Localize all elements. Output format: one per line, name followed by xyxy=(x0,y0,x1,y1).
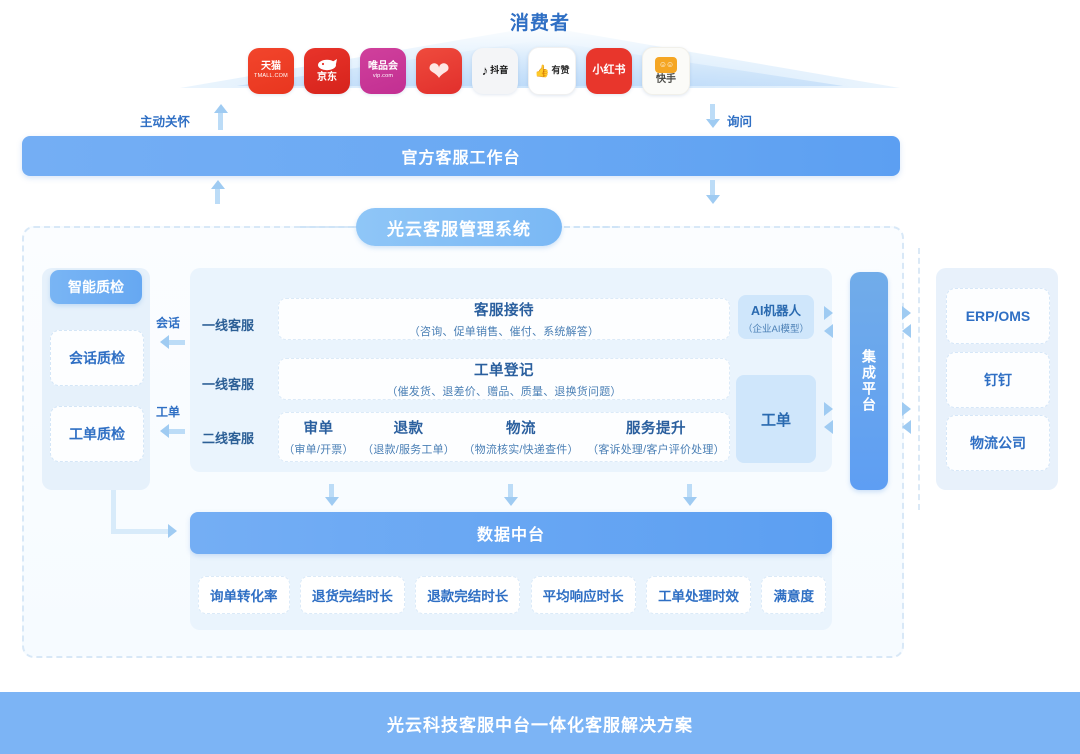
heart-glyph: ❤ xyxy=(428,58,450,84)
system-title-label: 光云客服管理系统 xyxy=(387,215,531,240)
second-line-col-audit-title: 审单 xyxy=(303,417,333,438)
integ-in-arrow-2 xyxy=(824,402,833,416)
workbench-down-arrow-head xyxy=(706,195,720,204)
second-line-col-service[interactable]: 服务提升 （客诉处理/客户评价处理） xyxy=(587,417,725,457)
external-item-erp-label: ERP/OMS xyxy=(966,308,1031,324)
role-second-line: 二线客服 xyxy=(202,428,254,447)
footer-label: 光云科技客服中台一体化客服解决方案 xyxy=(387,711,693,736)
second-line-col-refund[interactable]: 退款 （退款/服务工单） xyxy=(362,417,455,457)
metric-satisfaction-label: 满意度 xyxy=(773,585,814,605)
official-workbench-bar[interactable]: 官方客服工作台 xyxy=(22,136,900,176)
data-arrow-stem-3 xyxy=(687,484,692,498)
metric-return-duration-label: 退货完结时长 xyxy=(312,585,393,605)
ticket-box-label: 工单 xyxy=(761,409,791,430)
qc-to-data-stem-vertical xyxy=(111,490,116,532)
data-arrow-head-1 xyxy=(325,497,339,506)
card-ticket-register-title: 工单登记 xyxy=(474,359,534,380)
second-line-col-audit-subtitle: （审单/开票） xyxy=(283,441,353,457)
session-arrow-stem xyxy=(169,340,185,345)
card-reception-subtitle: （咨询、促单销售、催付、系统解答） xyxy=(409,323,599,339)
douyin-label: 抖音 xyxy=(490,66,508,75)
quality-item-session[interactable]: 会话质检 xyxy=(50,330,144,386)
label-inquiry: 询问 xyxy=(727,111,752,130)
second-line-col-logistics-title: 物流 xyxy=(506,417,536,438)
tmall-icon[interactable]: 天猫 TMALL.COM xyxy=(248,48,294,94)
tmall-sublabel: TMALL.COM xyxy=(254,74,288,80)
data-arrow-head-3 xyxy=(683,497,697,506)
integ-in-arrow-1 xyxy=(824,306,833,320)
integration-platform-bar[interactable]: 集成平台 xyxy=(850,272,888,490)
metric-avg-response[interactable]: 平均响应时长 xyxy=(531,576,636,614)
metric-return-duration[interactable]: 退货完结时长 xyxy=(300,576,405,614)
diagram-canvas: 消费者 天猫 TMALL.COM 京东 唯品会 vip.com ❤ ♪ 抖音 xyxy=(0,0,1080,754)
external-item-erp[interactable]: ERP/OMS xyxy=(946,288,1050,344)
vip-label: 唯品会 xyxy=(368,62,398,73)
card-reception-title: 客服接待 xyxy=(474,299,534,320)
external-divider-dashed xyxy=(918,248,920,510)
quality-item-ticket-label: 工单质检 xyxy=(69,424,125,444)
role-first-line-1: 一线客服 xyxy=(202,315,254,334)
work-order-arrow-head xyxy=(160,424,169,438)
official-workbench-label: 官方客服工作台 xyxy=(401,144,520,168)
second-line-col-refund-subtitle: （退款/服务工单） xyxy=(362,441,455,457)
label-work-order: 工单 xyxy=(156,403,180,420)
external-item-logistics[interactable]: 物流公司 xyxy=(946,415,1050,471)
vip-sublabel: vip.com xyxy=(373,74,393,80)
kuaishou-mark: ☺☺ xyxy=(655,57,677,73)
system-title-pill: 光云客服管理系统 xyxy=(356,208,562,246)
kuaishou-icon[interactable]: ☺☺ 快手 xyxy=(642,47,690,95)
quality-check-header-label: 智能质检 xyxy=(68,277,124,297)
youzan-row: 👍 有赞 xyxy=(535,65,570,78)
metric-avg-response-label: 平均响应时长 xyxy=(543,585,624,605)
second-line-columns: 审单 （审单/开票） 退款 （退款/服务工单） 物流 （物流核实/快递查件） 服… xyxy=(279,417,729,457)
integ-out-arrow-2 xyxy=(824,420,833,434)
system-title-dash-left xyxy=(300,226,354,228)
ticket-box[interactable]: 工单 xyxy=(736,375,816,463)
second-line-col-refund-title: 退款 xyxy=(394,417,424,438)
second-line-col-audit[interactable]: 审单 （审单/开票） xyxy=(283,417,353,457)
workbench-up-arrow-head xyxy=(211,180,225,189)
workbench-down-arrow-stem xyxy=(710,180,715,196)
card-ticket-register[interactable]: 工单登记 （催发货、退差价、赠品、质量、退换货问题） xyxy=(278,358,730,400)
metric-ticket-efficiency[interactable]: 工单处理时效 xyxy=(646,576,751,614)
session-arrow-head xyxy=(160,335,169,349)
douyin-note-glyph: ♪ xyxy=(482,64,489,78)
metric-inquiry-conversion[interactable]: 询单转化率 xyxy=(198,576,290,614)
jd-icon[interactable]: 京东 xyxy=(304,48,350,94)
ext-out-arrow-2 xyxy=(902,420,911,434)
proactive-care-arrow-stem xyxy=(218,112,223,130)
tmall-label: 天猫 xyxy=(261,62,281,73)
xhs-label: 小红书 xyxy=(593,65,626,77)
data-arrow-stem-1 xyxy=(329,484,334,498)
ai-robot-title: AI机器人 xyxy=(751,300,801,319)
integration-platform-label: 集成平台 xyxy=(859,349,879,413)
footer-banner: 光云科技客服中台一体化客服解决方案 xyxy=(0,692,1080,754)
external-item-logistics-label: 物流公司 xyxy=(970,433,1026,453)
card-second-line[interactable]: 审单 （审单/开票） 退款 （退款/服务工单） 物流 （物流核实/快递查件） 服… xyxy=(278,412,730,462)
metric-ticket-efficiency-label: 工单处理时效 xyxy=(658,585,739,605)
metric-inquiry-conversion-label: 询单转化率 xyxy=(210,585,278,605)
quality-item-ticket[interactable]: 工单质检 xyxy=(50,406,144,462)
second-line-col-logistics-subtitle: （物流核实/快递查件） xyxy=(463,441,578,457)
card-reception[interactable]: 客服接待 （咨询、促单销售、催付、系统解答） xyxy=(278,298,730,340)
quality-item-session-label: 会话质检 xyxy=(69,348,125,368)
proactive-care-arrow-head xyxy=(214,104,228,113)
consumer-title: 消费者 xyxy=(0,8,1080,35)
data-platform-label: 数据中台 xyxy=(477,521,545,545)
ext-in-arrow-1 xyxy=(902,306,911,320)
second-line-col-logistics[interactable]: 物流 （物流核实/快递查件） xyxy=(463,417,578,457)
metric-satisfaction[interactable]: 满意度 xyxy=(761,576,826,614)
kuaishou-label: 快手 xyxy=(656,75,676,86)
vip-icon[interactable]: 唯品会 vip.com xyxy=(360,48,406,94)
ext-out-arrow-1 xyxy=(902,324,911,338)
external-item-dingtalk-label: 钉钉 xyxy=(984,370,1012,390)
inquiry-arrow-stem xyxy=(710,104,715,120)
second-line-col-service-subtitle: （客诉处理/客户评价处理） xyxy=(587,441,725,457)
second-line-col-service-title: 服务提升 xyxy=(626,417,686,438)
xiaohongshu-icon[interactable]: 小红书 xyxy=(586,48,632,94)
youzan-icon[interactable]: 👍 有赞 xyxy=(528,47,576,95)
data-arrow-stem-2 xyxy=(508,484,513,498)
douyin-icon[interactable]: ♪ 抖音 xyxy=(472,48,518,94)
qc-to-data-arrow-head xyxy=(168,524,177,538)
quality-check-header[interactable]: 智能质检 xyxy=(50,270,142,304)
heart-icon[interactable]: ❤ xyxy=(416,48,462,94)
role-first-line-2: 一线客服 xyxy=(202,374,254,393)
ai-robot-subtitle: （企业AI模型） xyxy=(743,321,809,335)
thumbs-up-icon: 👍 xyxy=(535,65,550,78)
workbench-up-arrow-stem xyxy=(215,188,220,204)
metric-refund-duration-label: 退款完结时长 xyxy=(427,585,508,605)
douyin-row: ♪ 抖音 xyxy=(482,64,509,78)
data-metrics-row: 询单转化率 退货完结时长 退款完结时长 平均响应时长 工单处理时效 满意度 xyxy=(198,576,826,614)
card-ticket-register-subtitle: （催发货、退差价、赠品、质量、退换货问题） xyxy=(386,383,621,399)
platform-icon-strip: 天猫 TMALL.COM 京东 唯品会 vip.com ❤ ♪ 抖音 xyxy=(248,48,848,94)
external-item-dingtalk[interactable]: 钉钉 xyxy=(946,352,1050,408)
jd-dog-glyph xyxy=(316,58,338,72)
label-session: 会话 xyxy=(156,314,180,331)
data-platform-bar[interactable]: 数据中台 xyxy=(190,512,832,554)
inquiry-arrow-head xyxy=(706,119,720,128)
qc-to-data-stem-horizontal xyxy=(111,529,169,534)
youzan-label: 有赞 xyxy=(551,66,569,75)
jd-label: 京东 xyxy=(317,73,337,84)
data-arrow-head-2 xyxy=(504,497,518,506)
work-order-arrow-stem xyxy=(169,429,185,434)
system-title-dash-right xyxy=(564,226,618,228)
ai-robot-box[interactable]: AI机器人 （企业AI模型） xyxy=(738,295,814,339)
metric-refund-duration[interactable]: 退款完结时长 xyxy=(415,576,520,614)
ext-in-arrow-2 xyxy=(902,402,911,416)
label-proactive-care: 主动关怀 xyxy=(140,111,190,130)
integ-out-arrow-1 xyxy=(824,324,833,338)
